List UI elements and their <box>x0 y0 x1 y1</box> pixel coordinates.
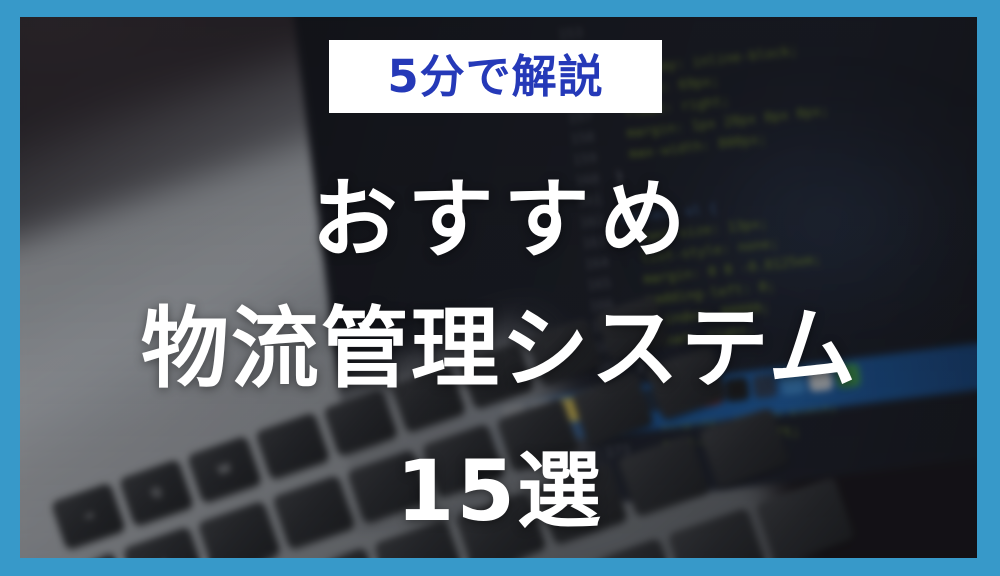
headline-line-2: 物流管理システム <box>20 305 977 393</box>
headline-line-3: 15選 <box>20 449 977 533</box>
eyebrow-badge-label: 5分で解説 <box>387 54 603 99</box>
thumbnail-canvas: 153 154 155 display: inline-block;156 wi… <box>0 0 1000 576</box>
background-photo: 153 154 155 display: inline-block;156 wi… <box>20 17 977 558</box>
eyebrow-badge: 5分で解説 <box>329 40 662 113</box>
headline-line-1: おすすめ <box>20 177 977 263</box>
text-content-layer: 5分で解説 おすすめ 物流管理システム 15選 <box>20 17 977 558</box>
